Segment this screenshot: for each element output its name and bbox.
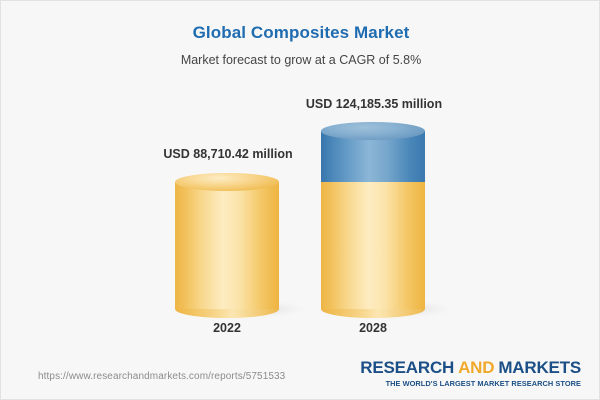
logo-wordmark: RESEARCHANDMARKETS (360, 359, 581, 377)
bar-value-label-2028: USD 124,185.35 million (267, 97, 481, 111)
bar-value-label-2022: USD 88,710.42 million (121, 147, 335, 161)
axis-label-2028: 2028 (321, 321, 425, 335)
logo-word-research: RESEARCH (360, 358, 454, 377)
chart-plot-area: USD 88,710.42 million USD 124,185.35 mil… (1, 1, 600, 400)
logo-word-markets: MARKETS (498, 358, 581, 377)
cylinder-body (175, 182, 279, 309)
research-and-markets-logo[interactable]: RESEARCHANDMARKETS THE WORLD'S LARGEST M… (360, 359, 581, 388)
source-url[interactable]: https://www.researchandmarkets.com/repor… (38, 371, 285, 382)
logo-tagline: THE WORLD'S LARGEST MARKET RESEARCH STOR… (360, 379, 581, 388)
bar-segment-2028-base (321, 182, 425, 309)
cylinder-body (321, 182, 425, 309)
bar-segment-2022-base (175, 182, 279, 309)
axis-label-2022: 2022 (175, 321, 279, 335)
chart-card: Global Composites Market Market forecast… (0, 0, 600, 400)
cylinder-top-ellipse (175, 173, 279, 191)
cylinder-top-ellipse (321, 122, 425, 140)
logo-word-and: AND (458, 358, 494, 377)
bar-segment-2028-growth (321, 131, 425, 182)
